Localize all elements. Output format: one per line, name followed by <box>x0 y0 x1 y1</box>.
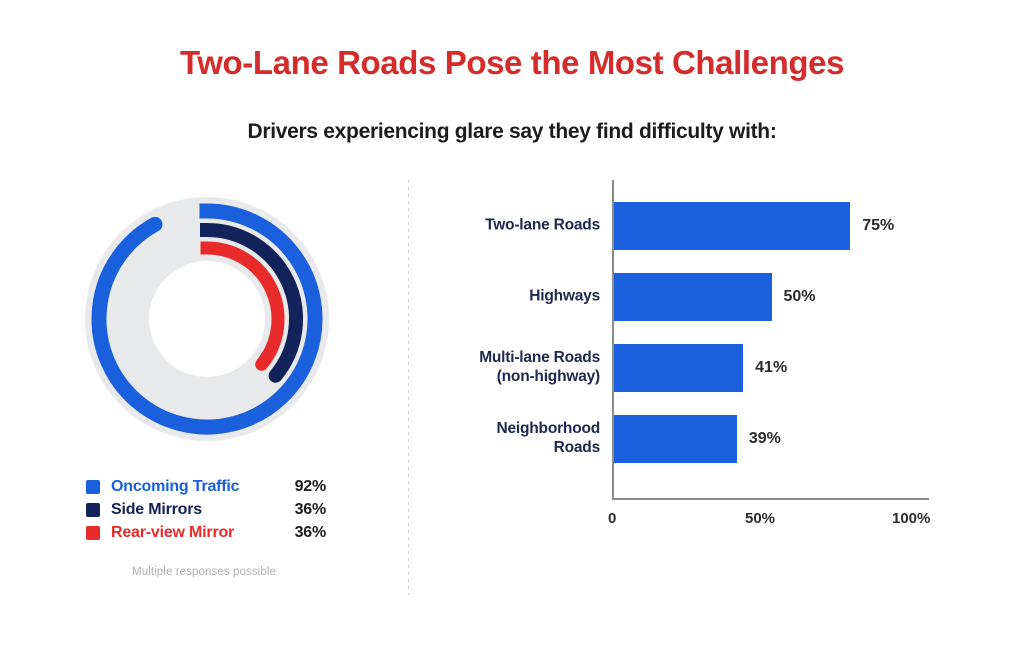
bar-highways <box>614 273 772 321</box>
bar-multi-lane-roads-non-highway <box>614 344 743 392</box>
legend-label-rear-view-mirror: Rear-view Mirror <box>111 524 284 542</box>
bar-label-neighborhood-roads: NeighborhoodRoads <box>497 420 601 458</box>
bar-row-multi-lane-roads-non-highway: Multi-lane Roads(non-highway)41% <box>614 344 743 392</box>
bar-row-highways: Highways50% <box>614 273 772 321</box>
bar-label-two-lane-roads: Two-lane Roads <box>485 217 600 236</box>
x-axis-tick-50: 50% <box>745 510 775 527</box>
donut-chart <box>83 195 331 443</box>
legend-swatch-rear-view-mirror <box>86 526 100 540</box>
x-axis-line <box>612 498 929 500</box>
page-subtitle: Drivers experiencing glare say they find… <box>0 120 1024 144</box>
donut-legend: Oncoming Traffic 92% Side Mirrors 36% Re… <box>86 475 326 544</box>
bar-label-multi-lane-roads-non-highway: Multi-lane Roads(non-highway) <box>479 349 600 387</box>
donut-arc-start-cap-rear-view-mirror <box>201 242 208 255</box>
bar-value-two-lane-roads: 75% <box>862 217 894 235</box>
legend-value-rear-view-mirror: 36% <box>284 524 326 542</box>
bar-two-lane-roads <box>614 202 850 250</box>
bar-row-neighborhood-roads: NeighborhoodRoads39% <box>614 415 737 463</box>
x-axis-tick-100: 100% <box>892 510 930 527</box>
page-title: Two-Lane Roads Pose the Most Challenges <box>0 44 1024 82</box>
infographic-page: Two-Lane Roads Pose the Most Challenges … <box>0 0 1024 651</box>
bar-chart-plot-area: Two-lane Roads75%Highways50%Multi-lane R… <box>612 180 927 500</box>
donut-arc-start-cap-side-mirrors <box>200 223 207 237</box>
x-axis-tick-0: 0 <box>608 510 616 527</box>
bar-neighborhood-roads <box>614 415 737 463</box>
legend-label-side-mirrors: Side Mirrors <box>111 501 284 519</box>
legend-item: Side Mirrors 36% <box>86 498 326 521</box>
legend-item: Rear-view Mirror 36% <box>86 521 326 544</box>
donut-chart-footnote: Multiple responses possible <box>0 566 408 578</box>
legend-swatch-oncoming-traffic <box>86 480 100 494</box>
legend-value-side-mirrors: 36% <box>284 501 326 519</box>
legend-value-oncoming-traffic: 92% <box>284 478 326 496</box>
bar-chart-footnote: Multiple responses possible <box>908 566 1024 578</box>
legend-item: Oncoming Traffic 92% <box>86 475 326 498</box>
legend-label-oncoming-traffic: Oncoming Traffic <box>111 478 284 496</box>
bar-value-highways: 50% <box>784 288 816 306</box>
legend-swatch-side-mirrors <box>86 503 100 517</box>
donut-arc-start-cap-oncoming-traffic <box>200 204 208 219</box>
bar-chart-panel: Two-lane Roads75%Highways50%Multi-lane R… <box>408 175 1024 595</box>
bar-value-neighborhood-roads: 39% <box>749 430 781 448</box>
bar-row-two-lane-roads: Two-lane Roads75% <box>614 202 850 250</box>
bar-value-multi-lane-roads-non-highway: 41% <box>755 359 787 377</box>
bar-label-highways: Highways <box>529 288 600 307</box>
donut-chart-panel: Oncoming Traffic 92% Side Mirrors 36% Re… <box>0 175 408 595</box>
